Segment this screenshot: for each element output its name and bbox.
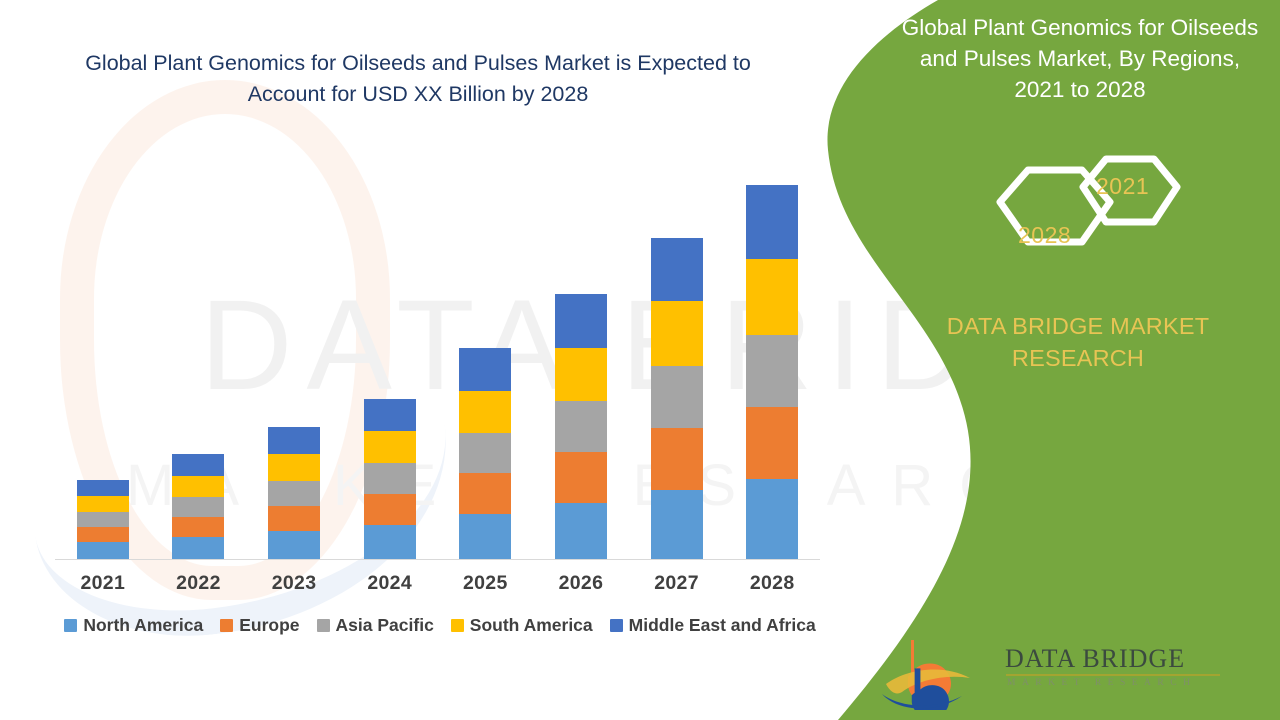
x-axis-line (55, 559, 820, 560)
bar-column-2027 (629, 171, 725, 560)
bar-segment (172, 537, 224, 560)
stacked-bar (172, 454, 224, 560)
stacked-bar (364, 399, 416, 560)
legend-swatch-icon (220, 619, 233, 632)
stacked-bar (746, 185, 798, 560)
bar-segment (268, 506, 320, 531)
bar-segment (459, 433, 511, 473)
x-axis-label-2022: 2022 (151, 572, 247, 595)
chart-title: Global Plant Genomics for Oilseeds and P… (58, 48, 778, 110)
right-green-panel: Global Plant Genomics for Oilseeds and P… (820, 0, 1280, 720)
chart-plot-area (55, 170, 820, 560)
stacked-bar (459, 348, 511, 560)
legend-swatch-icon (64, 619, 77, 632)
legend-label: Middle East and Africa (629, 615, 816, 636)
logo-divider (1006, 674, 1220, 676)
x-axis-label-2025: 2025 (438, 572, 534, 595)
bar-segment (77, 496, 129, 512)
bar-column-2024 (342, 171, 438, 560)
bar-segment (172, 497, 224, 517)
stacked-bar (268, 427, 320, 560)
bar-segment (555, 294, 607, 348)
bar-segment (77, 542, 129, 560)
x-axis-label-2026: 2026 (533, 572, 629, 595)
bar-segment (172, 517, 224, 537)
bar-segment (651, 238, 703, 301)
legend-swatch-icon (317, 619, 330, 632)
bar-column-2022 (151, 171, 247, 560)
bar-column-2026 (533, 171, 629, 560)
legend-swatch-icon (451, 619, 464, 632)
bar-segment (651, 366, 703, 428)
bar-segment (555, 452, 607, 503)
bar-segment (364, 399, 416, 431)
stacked-bar (77, 480, 129, 560)
bar-segment (77, 480, 129, 496)
x-axis-labels: 20212022202320242025202620272028 (55, 572, 820, 595)
x-axis-label-2028: 2028 (724, 572, 820, 595)
bar-segment (77, 527, 129, 542)
bar-segment (268, 427, 320, 454)
bar-segment (364, 431, 416, 463)
legend-item[interactable]: Asia Pacific (317, 615, 434, 636)
hexagon-label-2021: 2021 (1096, 173, 1149, 200)
bar-segment (268, 531, 320, 560)
bar-segment (268, 481, 320, 506)
panel-title: Global Plant Genomics for Oilseeds and P… (820, 12, 1280, 105)
legend-item[interactable]: South America (451, 615, 593, 636)
bar-segment (364, 525, 416, 560)
bar-segment (651, 301, 703, 366)
legend-item[interactable]: North America (64, 615, 203, 636)
bar-segment (555, 348, 607, 401)
legend-label: Asia Pacific (336, 615, 434, 636)
logo-mark-icon (880, 636, 1000, 710)
x-axis-label-2021: 2021 (55, 572, 151, 595)
bar-column-2023 (246, 171, 342, 560)
slide-root: DATA BRIDGE MARKET RESEARCH Global Plant… (0, 0, 1280, 720)
bar-segment (746, 479, 798, 560)
legend-item[interactable]: Middle East and Africa (610, 615, 816, 636)
bar-segment (364, 494, 416, 525)
bar-series-container (55, 171, 820, 560)
bar-segment (172, 476, 224, 497)
bar-segment (459, 391, 511, 433)
bar-segment (77, 512, 129, 527)
logo-tagline: MARKET RESEARCH (1007, 678, 1196, 688)
x-axis-label-2027: 2027 (629, 572, 725, 595)
year-hexagons: 2021 2028 (970, 142, 1200, 272)
legend-swatch-icon (610, 619, 623, 632)
data-bridge-logo: DATA BRIDGE MARKET RESEARCH (880, 636, 1280, 710)
bar-segment (459, 473, 511, 514)
bar-segment (651, 428, 703, 490)
bar-segment (746, 185, 798, 259)
logo-wordmark: DATA BRIDGE (1005, 644, 1185, 674)
bar-column-2021 (55, 171, 151, 560)
bar-segment (746, 407, 798, 479)
bar-segment (651, 490, 703, 560)
legend-label: Europe (239, 615, 299, 636)
stacked-bar (555, 294, 607, 560)
bar-column-2025 (438, 171, 534, 560)
x-axis-label-2024: 2024 (342, 572, 438, 595)
bar-segment (555, 401, 607, 452)
hexagon-label-2028: 2028 (1018, 222, 1071, 249)
bar-segment (746, 259, 798, 335)
bar-segment (364, 463, 416, 494)
chart-legend: North AmericaEuropeAsia PacificSouth Ame… (55, 615, 825, 636)
bar-segment (459, 348, 511, 391)
legend-label: North America (83, 615, 203, 636)
x-axis-label-2023: 2023 (246, 572, 342, 595)
legend-label: South America (470, 615, 593, 636)
bar-segment (268, 454, 320, 481)
bar-segment (555, 503, 607, 560)
brand-name-text: DATA BRIDGE MARKET RESEARCH (878, 310, 1278, 374)
bar-segment (746, 335, 798, 407)
stacked-bar (651, 238, 703, 560)
bar-column-2028 (724, 171, 820, 560)
bar-segment (172, 454, 224, 476)
legend-item[interactable]: Europe (220, 615, 299, 636)
bar-segment (459, 514, 511, 560)
